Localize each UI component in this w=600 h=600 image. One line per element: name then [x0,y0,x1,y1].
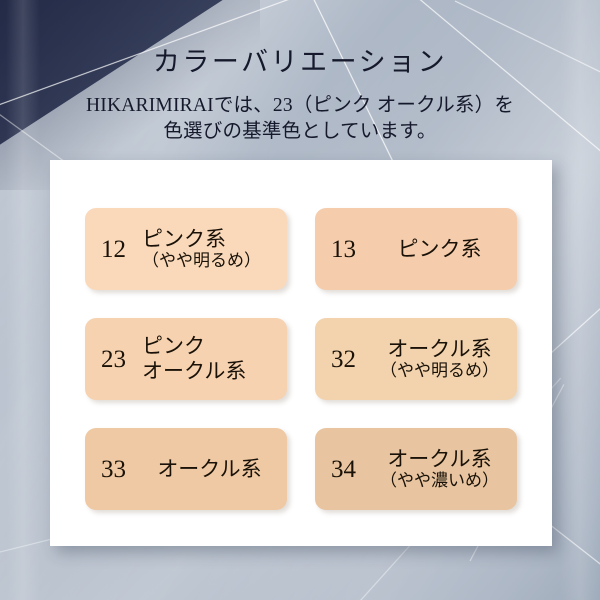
header: カラーバリエーション HIKARIMIRAIでは、23（ピンク オークル系）を … [0,0,600,144]
swatch-card-34[interactable]: 34 オークル系 （やや濃いめ） [315,428,517,510]
swatch-code: 32 [331,347,356,372]
subtitle-line-1: HIKARIMIRAIでは、23（ピンク オークル系）を [0,93,600,119]
swatch-label: ピンク系 （やや明るめ） [142,227,287,272]
swatch-grid: 12 ピンク系 （やや明るめ） 13 ピンク系 23 ピンク オークル系 [85,208,517,510]
swatch-label-line-1: ピンク [142,334,287,359]
swatch-label-line-2: オークル系 [142,359,287,384]
swatch-card-12[interactable]: 12 ピンク系 （やや明るめ） [85,208,287,290]
swatch-label: オークル系 （やや明るめ） [372,337,517,382]
promo-graphic: カラーバリエーション HIKARIMIRAIでは、23（ピンク オークル系）を … [0,0,600,600]
page-title: カラーバリエーション [0,40,600,79]
swatch-content: 12 ピンク系 （やや明るめ） [85,227,287,272]
swatch-label-line-2: （やや明るめ） [372,361,507,381]
swatch-label: ピンク系 [372,237,517,262]
swatch-label-line-2: （やや明るめ） [142,251,287,271]
swatch-card-33[interactable]: 33 オークル系 [85,428,287,510]
swatch-label-line-1: ピンク系 [142,227,287,252]
swatch-card-23[interactable]: 23 ピンク オークル系 [85,318,287,400]
swatch-content: 32 オークル系 （やや明るめ） [315,337,517,382]
vertical-light-band [560,0,600,600]
swatch-card-13[interactable]: 13 ピンク系 [315,208,517,290]
swatch-label-line-1: オークル系 [372,337,507,362]
swatch-card-32[interactable]: 32 オークル系 （やや明るめ） [315,318,517,400]
swatch-label: ピンク オークル系 [142,334,287,384]
swatch-label: オークル系 （やや濃いめ） [372,447,517,492]
page-subtitle: HIKARIMIRAIでは、23（ピンク オークル系）を 色選びの基準色としてい… [0,93,600,144]
swatch-label-line-2: （やや濃いめ） [372,471,507,491]
light-ray [455,0,600,146]
vertical-light-band [6,0,40,600]
swatch-code: 34 [331,457,356,482]
swatch-content: 23 ピンク オークル系 [85,334,287,384]
swatch-content: 33 オークル系 [85,457,287,482]
swatch-code: 13 [331,237,356,262]
swatch-code: 12 [101,237,126,262]
swatch-label: オークル系 [142,457,287,482]
swatch-label-line-1: オークル系 [372,447,507,472]
swatch-content: 13 ピンク系 [315,237,517,262]
swatch-code: 23 [101,347,126,372]
swatch-label-line-1: ピンク系 [372,237,507,262]
light-ray [0,0,600,120]
subtitle-line-2: 色選びの基準色としています。 [0,119,600,145]
swatch-content: 34 オークル系 （やや濃いめ） [315,447,517,492]
dark-corner-accent [0,0,404,165]
swatch-code: 33 [101,457,126,482]
swatch-label-line-1: オークル系 [142,457,277,482]
